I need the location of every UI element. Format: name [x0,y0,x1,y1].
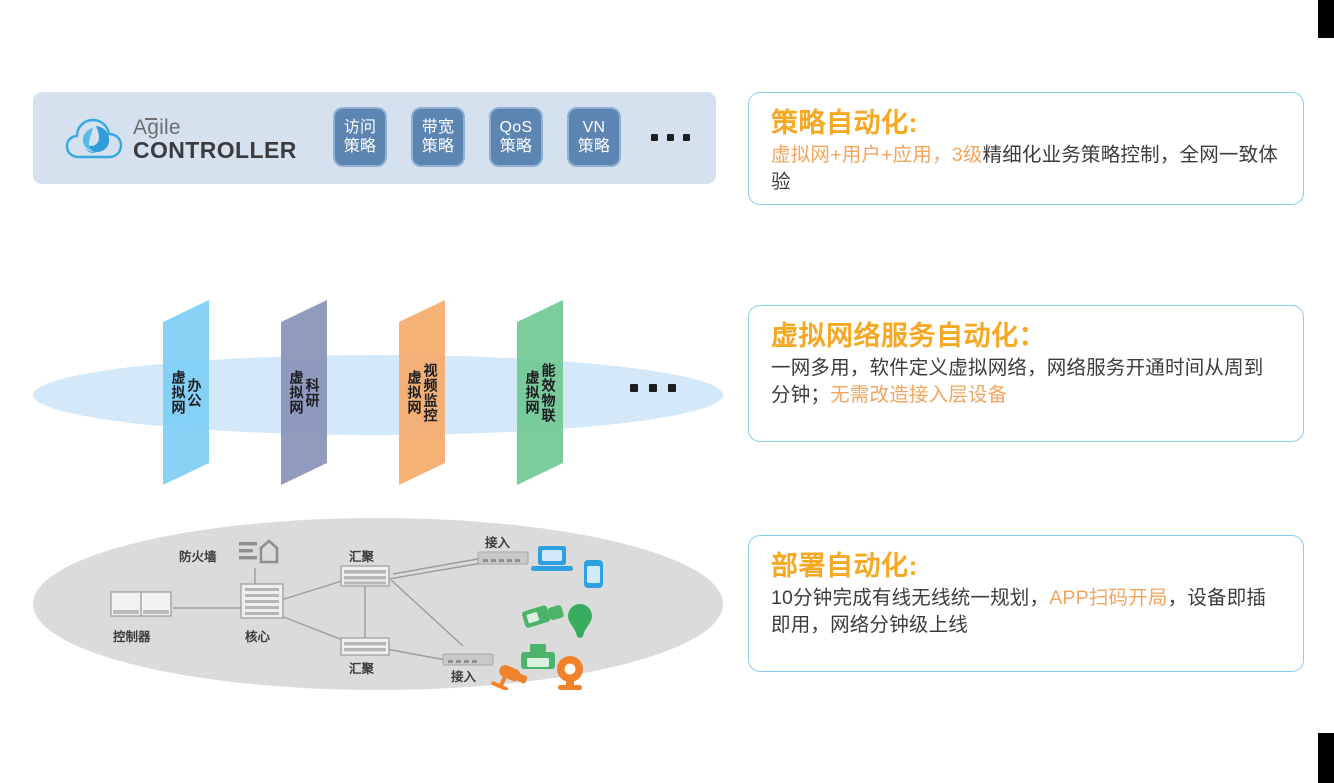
laptop-icon [531,546,573,571]
agile-controller-panel: Agile CONTROLLER 访问 策略 带宽 策略 QoS 策略 VN 策… [33,92,716,184]
bulb-icon [568,604,592,638]
feature-title: 部署自动化: [771,550,1283,583]
access-switch-bottom-icon [443,654,493,665]
feature-body-highlight: 无需改造接入层设备 [830,384,1007,406]
policy-chip-vn[interactable]: VN 策略 [567,107,621,167]
virtual-network-diagram: 办公 虚拟网 科研 虚拟网 视频监控 虚拟网 [33,300,723,485]
feature-body-lead: 10分钟完成有线无线统一规划， [771,587,1049,609]
printer-icon [521,644,555,669]
scanner-icon [521,601,564,629]
agile-controller-logo: Agile CONTROLLER [65,109,315,167]
right-edge-bar-top [1318,0,1334,38]
firewall-icon [239,541,277,562]
ellipsis-icon [651,134,690,141]
vnet-label-bottom: 虚拟网 [289,370,304,415]
logo-wordmark: Agile CONTROLLER [133,115,297,162]
vnet-panel-research[interactable]: 科研 虚拟网 [281,300,327,485]
vnet-panel-energy-iot[interactable]: 能效物联 虚拟网 [517,300,563,485]
policy-chip-line2: 策略 [500,137,533,156]
policy-chip-access[interactable]: 访问 策略 [333,107,387,167]
vnet-panel-office[interactable]: 办公 虚拟网 [163,300,209,485]
controller-icon [111,592,171,616]
logo-controller-text: CONTROLLER [133,139,297,162]
network-topology-diagram: 控制器 防火墙 核心 汇聚 汇聚 接入 接入 [33,518,723,690]
vnet-label-bottom: 虚拟网 [171,370,186,415]
policy-chip-qos[interactable]: QoS 策略 [489,107,543,167]
policy-chip-line2: 策略 [578,137,611,156]
tablet-icon [584,560,603,588]
policy-chip-line1: QoS [500,118,533,137]
vnet-panel-label: 能效物联 虚拟网 [517,300,563,485]
policy-chip-row: 访问 策略 带宽 策略 QoS 策略 VN 策略 [333,107,690,167]
cloud-swirl-icon [65,114,123,162]
topology-label-aggregation-bottom: 汇聚 [349,658,374,677]
vnet-backdrop-ellipse [33,355,723,435]
policy-chip-line2: 策略 [422,137,455,156]
vnet-label-top: 能效物联 [541,363,556,423]
topology-label-core: 核心 [245,626,270,645]
aggregation-switch-top-icon [341,566,389,586]
topology-label-aggregation-top: 汇聚 [349,546,374,565]
vnet-label-bottom: 虚拟网 [407,370,422,415]
feature-body: 10分钟完成有线无线统一规划，APP扫码开局，设备即插即用，网络分钟级上线 [771,585,1283,639]
topology-label-access-top: 接入 [485,532,510,551]
topology-graphics [33,518,723,690]
feature-title: 虚拟网络服务自动化： [771,320,1283,353]
topology-label-access-bottom: 接入 [451,666,476,685]
feature-card-deployment-automation: 部署自动化: 10分钟完成有线无线统一规划，APP扫码开局，设备即插即用，网络分… [748,535,1304,672]
policy-chip-line2: 策略 [344,137,377,156]
policy-chip-bandwidth[interactable]: 带宽 策略 [411,107,465,167]
access-switch-top-icon [478,552,528,564]
vnet-panel-label: 视频监控 虚拟网 [399,300,445,485]
ellipsis-icon [630,384,676,392]
logo-agile-text: Agile [133,117,181,138]
vnet-label-top: 科研 [305,378,320,408]
feature-body-highlight: 虚拟网+用户+应用，3级 [771,144,983,166]
feature-body: 虚拟网+用户+应用，3级精细化业务策略控制，全网一致体验 [771,142,1283,196]
feature-card-virtual-network-automation: 虚拟网络服务自动化： 一网多用，软件定义虚拟网络，网络服务开通时间从周到分钟；无… [748,305,1304,442]
topology-label-controller: 控制器 [113,626,151,645]
policy-chip-line1: 访问 [344,118,377,137]
right-edge-bar-bottom [1318,733,1334,783]
feature-body: 一网多用，软件定义虚拟网络，网络服务开通时间从周到分钟；无需改造接入层设备 [771,355,1283,409]
policy-chip-line1: VN [583,118,606,137]
feature-title: 策略自动化: [771,107,1283,140]
slide-canvas: Agile CONTROLLER 访问 策略 带宽 策略 QoS 策略 VN 策… [0,0,1334,783]
core-switch-icon [241,584,283,618]
vnet-label-bottom: 虚拟网 [525,370,540,415]
vnet-label-top: 办公 [187,378,202,408]
webcam-icon [557,656,583,690]
vnet-panel-label: 办公 虚拟网 [163,300,209,485]
vnet-panel-label: 科研 虚拟网 [281,300,327,485]
feature-card-policy-automation: 策略自动化: 虚拟网+用户+应用，3级精细化业务策略控制，全网一致体验 [748,92,1304,205]
topology-label-firewall: 防火墙 [179,546,217,565]
aggregation-switch-bottom-icon [341,638,389,655]
feature-body-highlight: APP扫码开局 [1049,587,1167,609]
vnet-panel-video-surveillance[interactable]: 视频监控 虚拟网 [399,300,445,485]
policy-chip-line1: 带宽 [422,118,455,137]
vnet-label-top: 视频监控 [423,363,438,423]
